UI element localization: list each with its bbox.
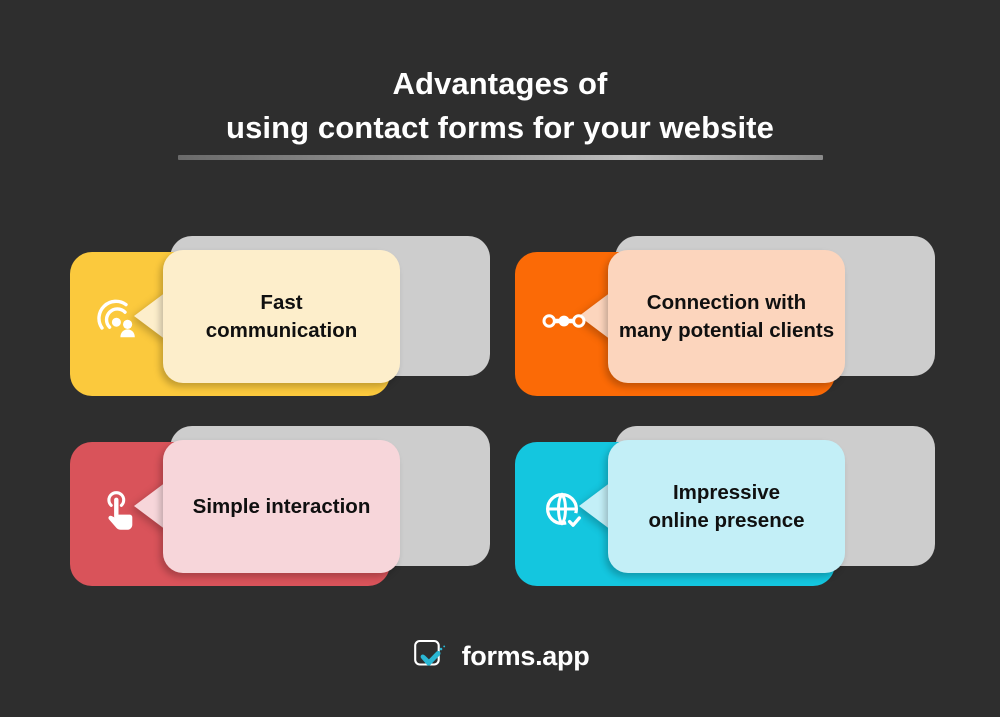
card-label-line-2: online presence [648, 509, 804, 532]
advantage-card-online-presence[interactable]: Impressive online presence [515, 426, 935, 586]
advantage-card-fast-communication[interactable]: Fast communication [70, 236, 490, 396]
card-label: Connection with many potential clients [608, 250, 845, 383]
card-label-line-1: Fast [260, 291, 302, 314]
advantage-card-simple-interaction[interactable]: Simple interaction [70, 426, 490, 586]
page-title: Advantages of using contact forms for yo… [0, 62, 1000, 150]
node-network-icon [537, 294, 591, 348]
page-title-line-2: using contact forms for your website [0, 106, 1000, 150]
tap-gesture-icon [92, 484, 146, 538]
card-label-line-2: communication [206, 319, 358, 342]
brand-name: forms.app [462, 641, 590, 671]
card-label-line-1: Simple interaction [193, 493, 371, 521]
card-label: Impressive online presence [608, 440, 845, 573]
card-label: Fast communication [163, 250, 400, 383]
globe-check-icon [537, 484, 591, 538]
page-title-line-1: Advantages of [0, 62, 1000, 106]
footer-brand-logo[interactable]: forms.app [0, 636, 1000, 676]
advantage-card-connection-clients[interactable]: Connection with many potential clients [515, 236, 935, 396]
card-label-line-1: Connection with [647, 291, 806, 314]
forms-app-check-logo-icon [411, 636, 451, 676]
card-label-line-1: Impressive [673, 481, 780, 504]
card-label: Simple interaction [163, 440, 400, 573]
title-divider [178, 155, 823, 160]
card-label-line-2: many potential clients [619, 319, 834, 342]
advantage-card-grid: Fast communication Connection with many … [0, 236, 1000, 586]
broadcast-user-icon [92, 294, 146, 348]
